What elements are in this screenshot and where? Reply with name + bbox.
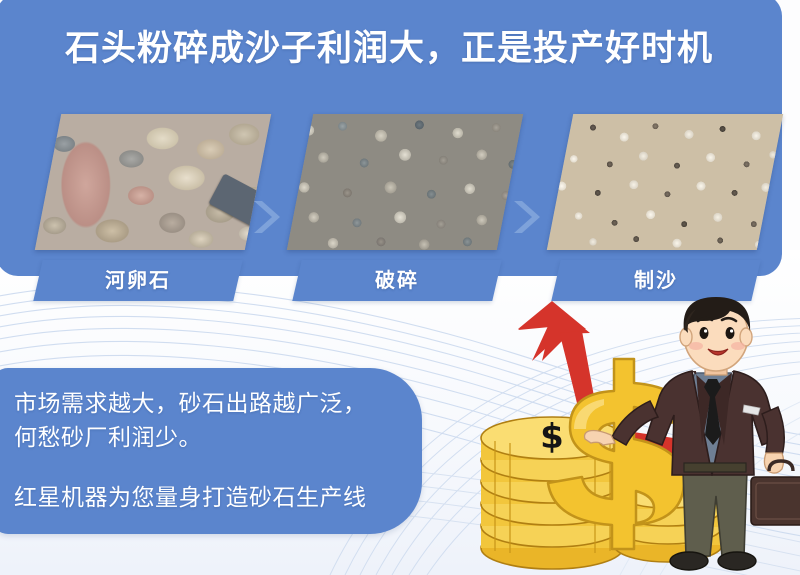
chevron-right-icon [250,197,284,237]
crushed-gravel-image [287,114,523,250]
message-line-2: 何愁砂厂利润少。 [14,420,202,456]
step-3-photo [547,114,783,250]
profit-illustration: $ $ [400,295,800,575]
message-line-1: 市场需求越大，砂石出路越广泛， [14,386,367,422]
message-bubble: 市场需求越大，砂石出路越广泛， 何愁砂厂利润少。 红星机器为您量身打造砂石生产线 [0,368,422,534]
process-step-3 [560,114,770,250]
step-1-label: 河卵石 [38,260,238,301]
step-1-photo [35,114,271,250]
page-title: 石头粉碎成沙子利润大，正是投产好时机 [0,20,782,71]
coin-dollar-symbol: $ [540,417,564,457]
manufactured-sand-image [547,114,783,250]
message-line-3: 红星机器为您量身打造砂石生产线 [14,480,367,516]
poster-canvas: 石头粉碎成沙子利润大，正是投产好时机 河卵石 破碎 制沙 [0,0,800,575]
step-1-label-bar: 河卵石 [33,260,242,301]
chevron-right-icon [510,197,544,237]
process-step-2 [300,114,510,250]
process-step-1 [48,114,258,250]
step-2-photo [287,114,523,250]
river-pebbles-image [35,114,271,250]
